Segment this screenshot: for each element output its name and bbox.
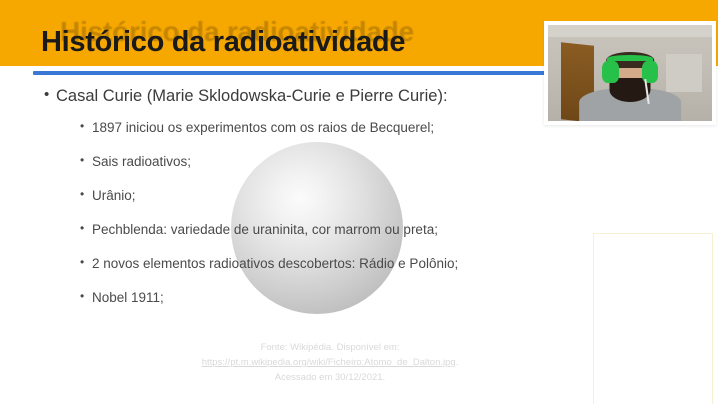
source-line-3: Acessado em 30/12/2021. bbox=[275, 372, 385, 383]
headphones-earcup-left-icon bbox=[602, 61, 618, 82]
bullet-level2: Urânio; bbox=[0, 187, 560, 204]
title-underline-rule bbox=[33, 71, 546, 75]
webcam-ceiling bbox=[548, 25, 712, 37]
bullet-level1: Casal Curie (Marie Sklodowska-Curie e Pi… bbox=[0, 86, 560, 106]
bullet-level2: 1897 iniciou os experimentos com os raio… bbox=[0, 119, 560, 136]
slide-content: Casal Curie (Marie Sklodowska-Curie e Pi… bbox=[0, 86, 560, 323]
page-title: Histórico da radioatividade bbox=[41, 26, 405, 59]
webcam-wall-panel bbox=[666, 54, 702, 92]
source-caption: Fonte: Wikipédia. Disponível em: https:/… bbox=[130, 340, 530, 385]
bullet-level2: Sais radioativos; bbox=[0, 153, 560, 170]
headphones-headband-icon bbox=[607, 55, 653, 62]
source-separator: . bbox=[456, 357, 459, 368]
decorative-frame-right bbox=[593, 233, 713, 404]
webcam-panel[interactable] bbox=[544, 21, 716, 125]
source-url-link[interactable]: https://pt.m.wikipedia.org/wiki/Ficheiro… bbox=[202, 357, 456, 368]
bullet-level2: 2 novos elementos radioativos descoberto… bbox=[0, 255, 560, 272]
presentation-slide: Histórico da radioatividade Histórico da… bbox=[0, 0, 718, 404]
bullet-level2: Nobel 1911; bbox=[0, 289, 560, 306]
source-line-1: Fonte: Wikipédia. Disponível em: bbox=[261, 342, 400, 353]
webcam-video-feed[interactable] bbox=[548, 25, 712, 121]
bullet-level2: Pechblenda: variedade de uraninita, cor … bbox=[0, 221, 560, 238]
